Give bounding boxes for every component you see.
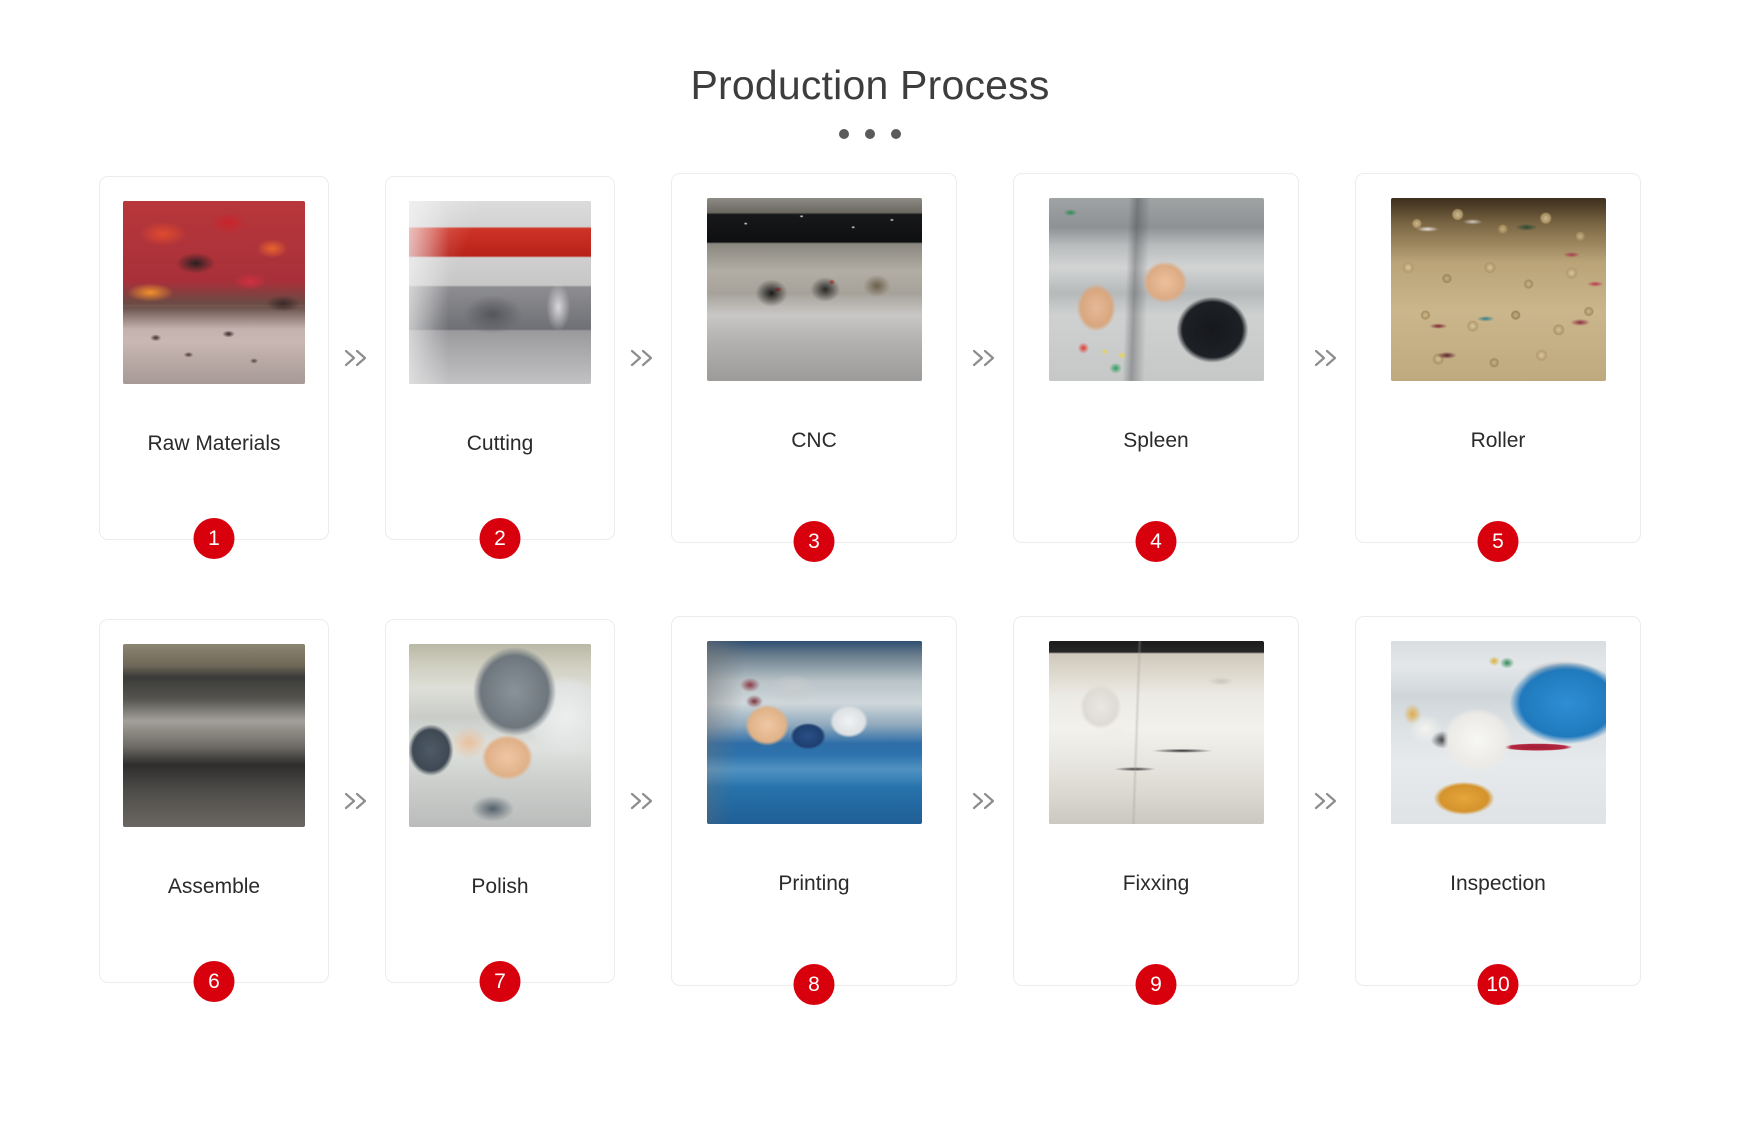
- process-step-card[interactable]: CNC 3: [671, 173, 957, 543]
- step-wrapper: Printing 8: [671, 616, 957, 986]
- process-step-label: Assemble: [168, 874, 260, 899]
- step-number-badge: 4: [1136, 521, 1177, 562]
- step-number-badge: 5: [1478, 521, 1519, 562]
- process-step-label: Cutting: [467, 431, 534, 456]
- spleen-photo: [1049, 198, 1264, 381]
- process-step-label: Polish: [471, 874, 528, 899]
- process-step-card[interactable]: Roller 5: [1355, 173, 1641, 543]
- cnc-photo: [707, 198, 922, 381]
- double-chevron-right-icon: [329, 616, 385, 986]
- step-wrapper: Cutting 2: [385, 173, 615, 543]
- assemble-photo: [123, 644, 305, 827]
- double-chevron-right-icon: [329, 173, 385, 543]
- process-step-label: CNC: [791, 428, 837, 453]
- double-chevron-right-icon: [957, 616, 1013, 986]
- step-number-badge: 2: [480, 518, 521, 559]
- double-chevron-right-icon: [957, 173, 1013, 543]
- step-number-badge: 6: [194, 961, 235, 1002]
- step-wrapper: Assemble 6: [99, 616, 329, 986]
- process-step-card[interactable]: Fixxing 9: [1013, 616, 1299, 986]
- inspection-photo: [1391, 641, 1606, 824]
- dot-icon: [865, 129, 875, 139]
- step-number-badge: 10: [1478, 964, 1519, 1005]
- double-chevron-right-icon: [1299, 616, 1355, 986]
- step-wrapper: Fixxing 9: [1013, 616, 1299, 986]
- step-number-badge: 9: [1136, 964, 1177, 1005]
- polish-photo: [409, 644, 591, 827]
- process-step-label: Printing: [778, 871, 849, 896]
- step-wrapper: Roller 5: [1355, 173, 1641, 543]
- step-wrapper: CNC 3: [671, 173, 957, 543]
- double-chevron-right-icon: [615, 616, 671, 986]
- process-step-label: Fixxing: [1123, 871, 1190, 896]
- process-step-card[interactable]: Printing 8: [671, 616, 957, 986]
- step-wrapper: Inspection 10: [1355, 616, 1641, 986]
- roller-photo: [1391, 198, 1606, 381]
- process-step-card[interactable]: Inspection 10: [1355, 616, 1641, 986]
- fixxing-photo: [1049, 641, 1264, 824]
- process-step-card[interactable]: Assemble 6: [99, 619, 329, 983]
- printing-photo: [707, 641, 922, 824]
- page-title: Production Process: [0, 62, 1740, 109]
- production-process-page: Production Process Raw Materials 1: [0, 0, 1740, 1134]
- dot-icon: [839, 129, 849, 139]
- step-wrapper: Polish 7: [385, 616, 615, 986]
- title-dots-decoration: [0, 129, 1740, 139]
- process-step-label: Roller: [1471, 428, 1526, 453]
- process-step-card[interactable]: Polish 7: [385, 619, 615, 983]
- step-wrapper: Spleen 4: [1013, 173, 1299, 543]
- process-step-label: Spleen: [1123, 428, 1188, 453]
- process-row-1: Raw Materials 1 Cutting 2: [0, 173, 1740, 543]
- process-step-card[interactable]: Raw Materials 1: [99, 176, 329, 540]
- double-chevron-right-icon: [615, 173, 671, 543]
- process-step-label: Inspection: [1450, 871, 1546, 896]
- page-header: Production Process: [0, 0, 1740, 139]
- step-number-badge: 3: [794, 521, 835, 562]
- process-row-2: Assemble 6 Polish 7: [0, 616, 1740, 986]
- step-wrapper: Raw Materials 1: [99, 173, 329, 543]
- dot-icon: [891, 129, 901, 139]
- process-rows: Raw Materials 1 Cutting 2: [0, 173, 1740, 986]
- process-step-card[interactable]: Cutting 2: [385, 176, 615, 540]
- process-step-card[interactable]: Spleen 4: [1013, 173, 1299, 543]
- raw-materials-photo: [123, 201, 305, 384]
- cutting-photo: [409, 201, 591, 384]
- step-number-badge: 7: [480, 961, 521, 1002]
- step-number-badge: 8: [794, 964, 835, 1005]
- process-step-label: Raw Materials: [147, 431, 280, 456]
- double-chevron-right-icon: [1299, 173, 1355, 543]
- step-number-badge: 1: [194, 518, 235, 559]
